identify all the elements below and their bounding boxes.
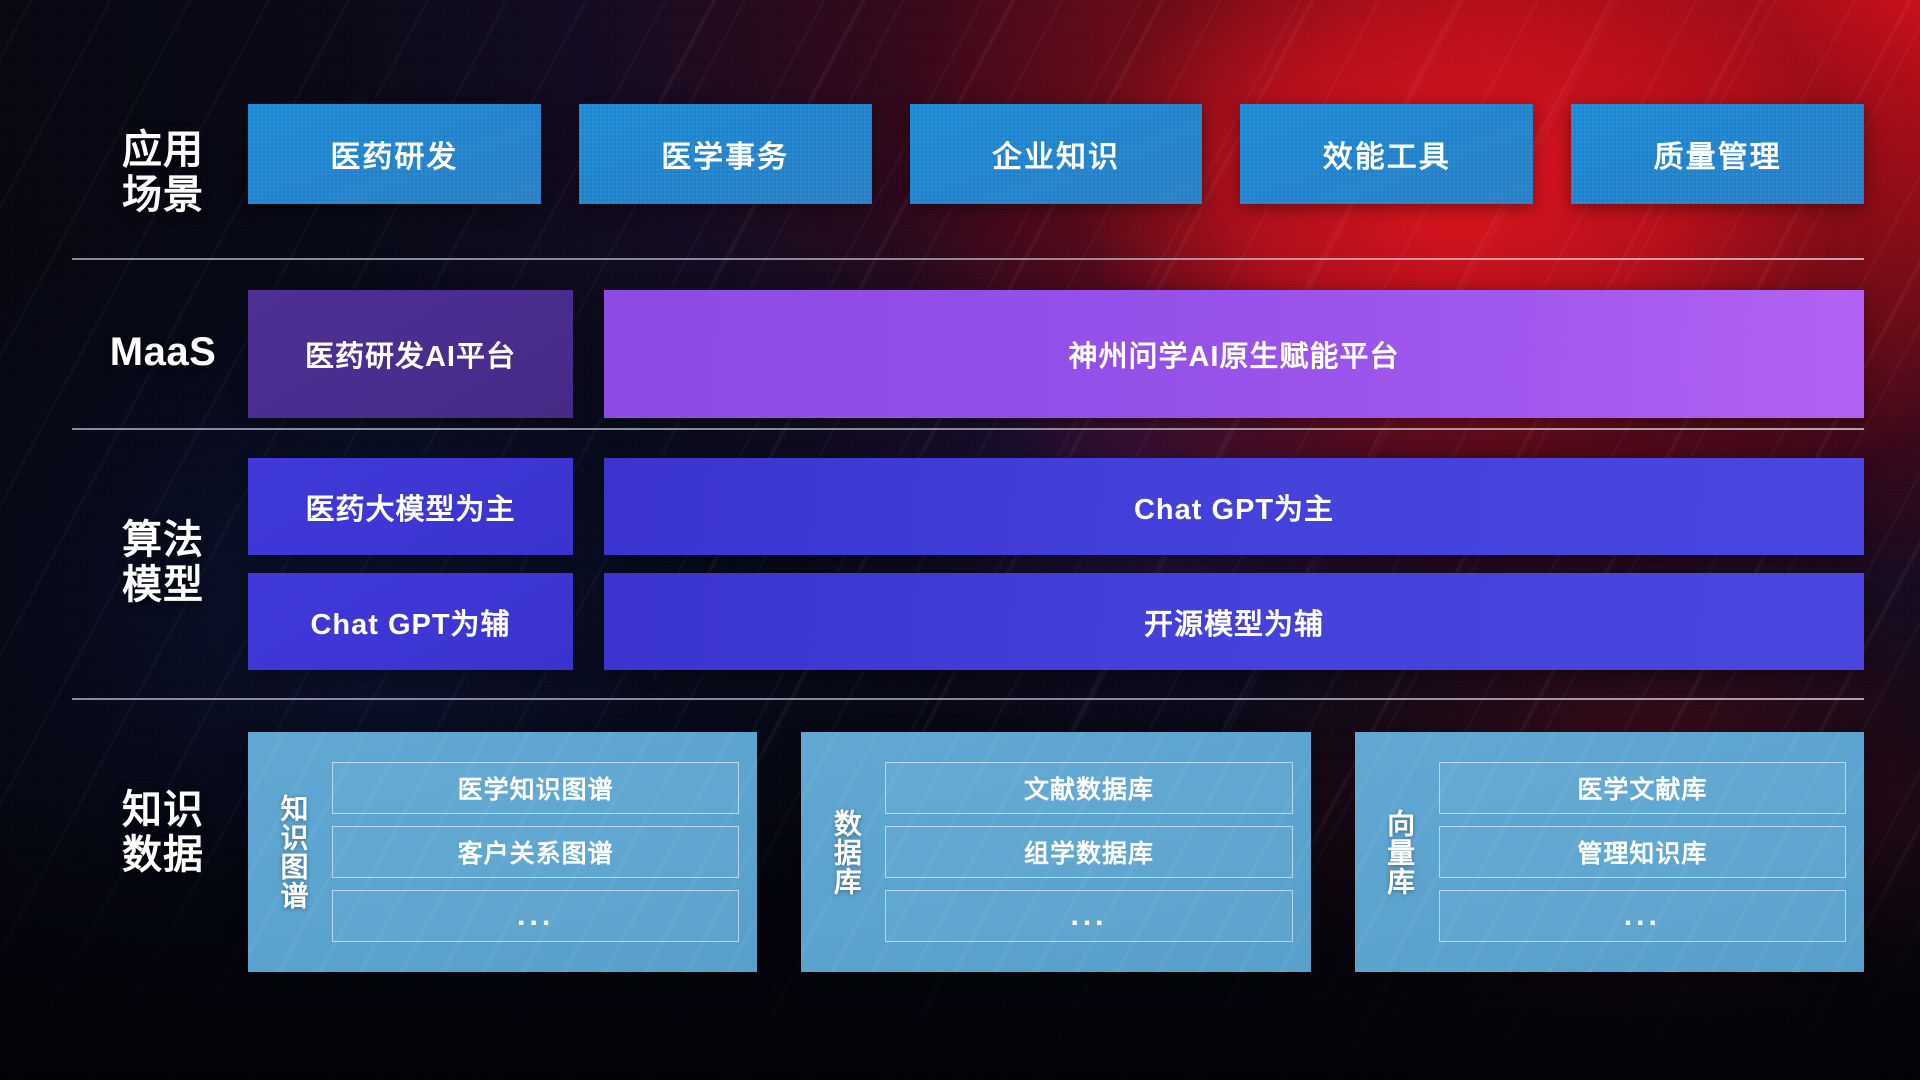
algo-box-chatgpt-secondary[interactable]: Chat GPT为辅 [248, 573, 573, 670]
application-scenario-box-track: 医药研发 医学事务 企业知识 效能工具 质量管理 [248, 104, 1864, 204]
algo-box-label: 开源模型为辅 [1144, 601, 1324, 643]
knowledge-card-vector-store[interactable]: 向量库 医学文献库 管理知识库 ... [1355, 732, 1864, 972]
row-label-line-1: 知识 [78, 788, 248, 833]
maas-box-label: 神州问学AI原生赋能平台 [1068, 333, 1399, 375]
scenario-box-quality-management[interactable]: 质量管理 [1571, 104, 1864, 204]
scenario-box-efficiency-tools[interactable]: 效能工具 [1240, 104, 1533, 204]
row-label-line-2: 场景 [78, 173, 248, 218]
knowledge-card-item-list: 文献数据库 组学数据库 ... [877, 746, 1292, 958]
algo-box-label: 医药大模型为主 [305, 486, 515, 528]
knowledge-card-item[interactable]: 医学文献库 [1439, 762, 1846, 814]
algo-box-open-source-secondary[interactable]: 开源模型为辅 [604, 573, 1864, 670]
architecture-diagram: 应用 场景 医药研发 医学事务 企业知识 效能工具 质量管理 MaaS 医药研发 [0, 0, 1920, 1080]
row-label-line-2: 数据 [78, 833, 248, 878]
row-label-maas: MaaS [78, 330, 248, 375]
knowledge-card-item[interactable]: 文献数据库 [885, 762, 1292, 814]
divider-maas-algorithm [72, 428, 1864, 430]
scenario-box-label: 医药研发 [330, 132, 458, 176]
algo-box-label: Chat GPT为辅 [310, 601, 510, 643]
scenario-box-enterprise-knowledge[interactable]: 企业知识 [910, 104, 1203, 204]
scenario-box-label: 质量管理 [1654, 132, 1782, 176]
knowledge-card-item-list: 医学文献库 管理知识库 ... [1431, 746, 1846, 958]
row-label-knowledge-data: 知识 数据 [78, 788, 248, 878]
maas-box-label: 医药研发AI平台 [305, 333, 516, 375]
algo-box-drug-large-model-primary[interactable]: 医药大模型为主 [248, 458, 573, 555]
knowledge-data-card-track: 知识图谱 医学知识图谱 客户关系图谱 ... 数据库 文献数据库 组学数据库 .… [248, 732, 1864, 972]
knowledge-card-item[interactable]: 医学知识图谱 [332, 762, 739, 814]
knowledge-card-side-label: 知识图谱 [262, 746, 324, 958]
knowledge-card-item-more[interactable]: ... [885, 890, 1292, 942]
knowledge-card-side-label: 数据库 [815, 746, 877, 958]
row-label-line-2: 模型 [78, 563, 248, 608]
scenario-box-label: 效能工具 [1323, 132, 1451, 176]
knowledge-card-database[interactable]: 数据库 文献数据库 组学数据库 ... [801, 732, 1310, 972]
scenario-box-drug-rd[interactable]: 医药研发 [248, 104, 541, 204]
row-label-line-1: 应用 [78, 128, 248, 173]
knowledge-card-item[interactable]: 组学数据库 [885, 826, 1292, 878]
knowledge-card-item-more[interactable]: ... [1439, 890, 1846, 942]
knowledge-card-knowledge-graph[interactable]: 知识图谱 医学知识图谱 客户关系图谱 ... [248, 732, 757, 972]
knowledge-card-side-label: 向量库 [1369, 746, 1431, 958]
row-label-algorithm-model: 算法 模型 [78, 518, 248, 608]
scenario-box-medical-affairs[interactable]: 医学事务 [579, 104, 872, 204]
maas-box-shenzhou-wenxue-platform[interactable]: 神州问学AI原生赋能平台 [604, 290, 1864, 418]
divider-application-maas [72, 258, 1864, 260]
knowledge-card-item[interactable]: 管理知识库 [1439, 826, 1846, 878]
knowledge-card-item[interactable]: 客户关系图谱 [332, 826, 739, 878]
knowledge-card-item-more[interactable]: ... [332, 890, 739, 942]
row-label-application-scenario: 应用 场景 [78, 128, 248, 218]
algo-box-label: Chat GPT为主 [1134, 486, 1334, 528]
scenario-box-label: 医学事务 [661, 132, 789, 176]
divider-algorithm-knowledge [72, 698, 1864, 700]
algo-box-chatgpt-primary[interactable]: Chat GPT为主 [604, 458, 1864, 555]
scenario-box-label: 企业知识 [992, 132, 1120, 176]
maas-box-drug-rd-ai-platform[interactable]: 医药研发AI平台 [248, 290, 573, 418]
knowledge-card-item-list: 医学知识图谱 客户关系图谱 ... [324, 746, 739, 958]
row-label-line-1: 算法 [78, 518, 248, 563]
